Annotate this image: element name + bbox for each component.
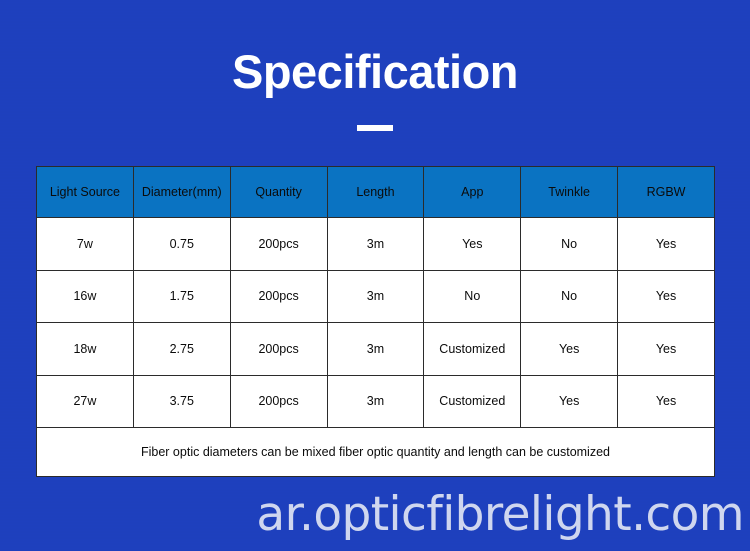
table-cell: 2.75 [133,323,230,376]
table-cell: No [521,218,618,271]
table-cell: Yes [521,375,618,428]
column-header: Length [327,167,424,218]
table-cell: 7w [37,218,134,271]
table-cell: Yes [618,218,715,271]
table-footer-row: Fiber optic diameters can be mixed fiber… [37,428,715,477]
site-watermark: ar.opticfibrelight.com [0,484,750,546]
table-row: 16w1.75200pcs3mNoNoYes [37,270,715,323]
table-cell: 27w [37,375,134,428]
table-footer: Fiber optic diameters can be mixed fiber… [37,428,715,477]
table-cell: 3m [327,375,424,428]
table-header: Light SourceDiameter(mm)QuantityLengthAp… [37,167,715,218]
table-row: 7w0.75200pcs3mYesNoYes [37,218,715,271]
table-cell: Yes [424,218,521,271]
page-title: Specification [0,47,750,96]
column-header: RGBW [618,167,715,218]
table-cell: 200pcs [230,270,327,323]
table-cell: Customized [424,375,521,428]
table-cell: 18w [37,323,134,376]
table-cell: 1.75 [133,270,230,323]
table-cell: No [424,270,521,323]
table-cell: Customized [424,323,521,376]
table-cell: 3.75 [133,375,230,428]
column-header: Diameter(mm) [133,167,230,218]
table-cell: 3m [327,270,424,323]
table-cell: Yes [618,270,715,323]
table-cell: Yes [521,323,618,376]
title-divider [357,125,393,131]
column-header: Light Source [37,167,134,218]
column-header: Twinkle [521,167,618,218]
table-cell: 3m [327,323,424,376]
table-cell: 200pcs [230,218,327,271]
column-header: Quantity [230,167,327,218]
table-cell: 0.75 [133,218,230,271]
specification-table-container: Light SourceDiameter(mm)QuantityLengthAp… [36,166,715,477]
footer-note-cell: Fiber optic diameters can be mixed fiber… [37,428,715,477]
table-row: 18w2.75200pcs3mCustomizedYesYes [37,323,715,376]
table-row: 27w3.75200pcs3mCustomizedYesYes [37,375,715,428]
table-body: 7w0.75200pcs3mYesNoYes16w1.75200pcs3mNoN… [37,218,715,428]
column-header: App [424,167,521,218]
table-cell: No [521,270,618,323]
table-cell: 16w [37,270,134,323]
table-cell: 200pcs [230,375,327,428]
specification-table: Light SourceDiameter(mm)QuantityLengthAp… [36,166,715,477]
table-cell: Yes [618,323,715,376]
table-cell: 200pcs [230,323,327,376]
table-cell: Yes [618,375,715,428]
table-header-row: Light SourceDiameter(mm)QuantityLengthAp… [37,167,715,218]
table-cell: 3m [327,218,424,271]
